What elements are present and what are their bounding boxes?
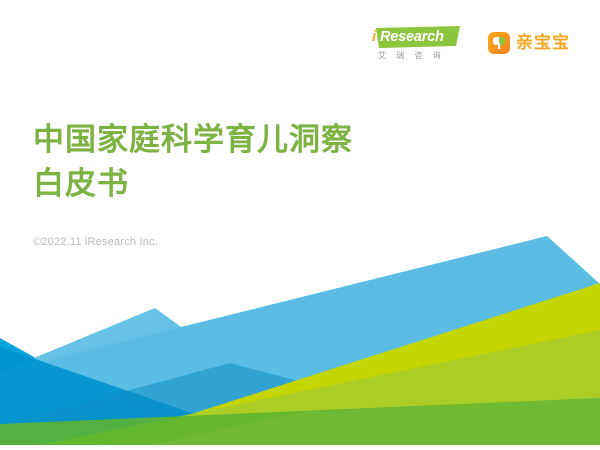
logo-row: i Research 艾 瑞 咨 询 亲宝宝 [368,26,570,66]
iresearch-wordmark: Research [380,27,444,47]
iresearch-chinese-name: 艾 瑞 咨 询 [378,50,445,61]
copyright-text: ©2022.11 iResearch Inc. [33,236,158,248]
qinbaobao-logo: 亲宝宝 [488,32,570,54]
sky-blue-band [0,236,600,450]
qinbaobao-wordmark: 亲宝宝 [516,32,570,54]
yellow-green-band [95,283,600,445]
lime-green-overlay [40,330,600,445]
artwork-background [0,0,600,450]
page-title-line-1: 中国家庭科学育儿洞察 [33,118,493,162]
cover-slide: i Research 艾 瑞 咨 询 亲宝宝 中国家庭科学育儿洞察 白皮书 ©2… [0,0,600,450]
cyan-left-wedge [0,338,200,450]
iresearch-logo: i Research 艾 瑞 咨 询 [368,26,460,66]
page-title-line-2: 白皮书 [33,162,493,206]
deep-blue-mountain [0,347,300,450]
blue-peak-mountain [0,308,350,450]
leaf-sprout-icon [488,32,510,54]
mid-green-wedge [150,398,600,445]
bottom-white-strip [0,445,600,450]
iresearch-i-letter: i [372,27,376,47]
page-title: 中国家庭科学育儿洞察 白皮书 [33,118,493,206]
teal-right-slope [0,363,560,450]
decorative-artwork [0,0,600,450]
artwork-shapes [0,236,600,450]
grass-green-mountain [0,398,600,445]
